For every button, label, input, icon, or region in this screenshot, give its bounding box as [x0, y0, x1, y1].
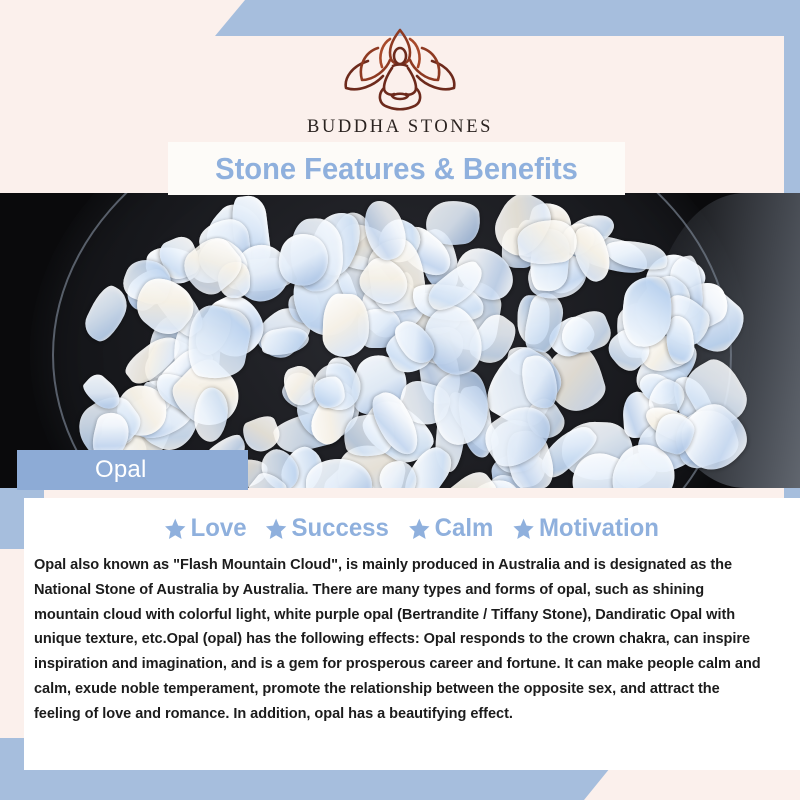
decorative-bottom-blue-band [0, 768, 610, 800]
hero-photo [0, 193, 800, 488]
benefit-label: Success [292, 514, 389, 543]
benefit-label: Calm [435, 514, 494, 543]
benefit-item: Calm [408, 514, 494, 543]
opal-stone [322, 293, 370, 357]
star-icon [164, 517, 187, 541]
star-icon [265, 517, 288, 541]
brand-logo: BUDDHA STONES [0, 22, 800, 138]
content-panel: LoveSuccessCalmMotivation Opal also know… [24, 498, 800, 770]
opal-stone [313, 376, 345, 408]
benefit-label: Motivation [539, 514, 659, 543]
star-icon [512, 517, 535, 541]
benefit-item: Success [265, 514, 389, 543]
description-paragraph: Opal also known as "Flash Mountain Cloud… [34, 553, 762, 726]
brand-name: BUDDHA STONES [307, 117, 493, 138]
benefits-row: LoveSuccessCalmMotivation [24, 498, 800, 543]
page-title: Stone Features & Benefits [182, 142, 612, 195]
benefit-item: Love [164, 514, 247, 543]
opal-stone-cluster [0, 193, 800, 488]
benefit-item: Motivation [512, 514, 659, 543]
benefit-label: Love [191, 514, 247, 543]
lotus-meditation-figure-icon [338, 22, 462, 114]
star-icon [408, 517, 431, 541]
stone-name-label: Opal [95, 456, 147, 484]
stone-name-badge: Opal [17, 450, 248, 490]
poster-root: BUDDHA STONES Stone Features & Benefits … [0, 0, 800, 800]
decorative-bottom-left-tab [0, 738, 24, 768]
